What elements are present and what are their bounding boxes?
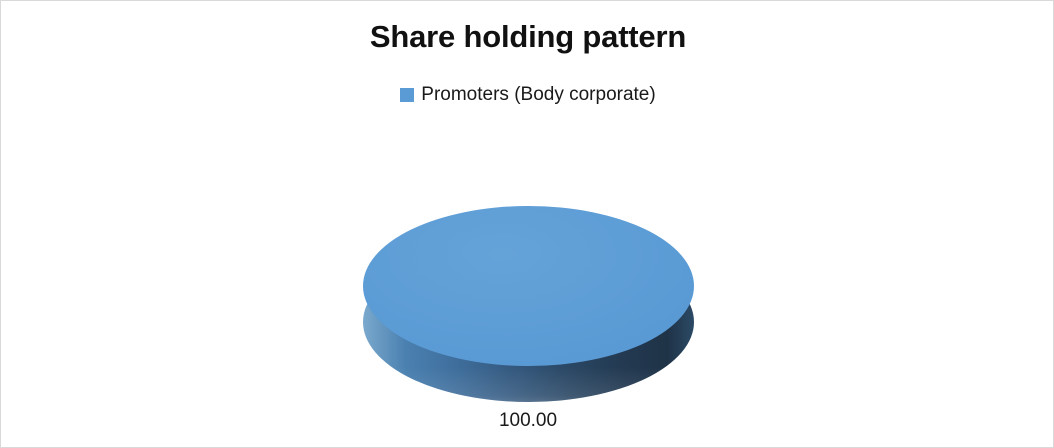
pie-data-label: 100.00 bbox=[1, 410, 1054, 432]
chart-legend: Promoters (Body corporate) bbox=[1, 85, 1054, 104]
pie-chart-graphic[interactable] bbox=[363, 206, 694, 402]
legend-item-label: Promoters (Body corporate) bbox=[421, 85, 655, 104]
legend-color-swatch-icon bbox=[400, 88, 414, 102]
pie-slice-promoters[interactable] bbox=[363, 206, 694, 366]
legend-item-promoters[interactable]: Promoters (Body corporate) bbox=[400, 85, 655, 104]
chart-container: Share holding pattern Promoters (Body co… bbox=[0, 0, 1054, 448]
chart-title: Share holding pattern bbox=[1, 19, 1054, 55]
